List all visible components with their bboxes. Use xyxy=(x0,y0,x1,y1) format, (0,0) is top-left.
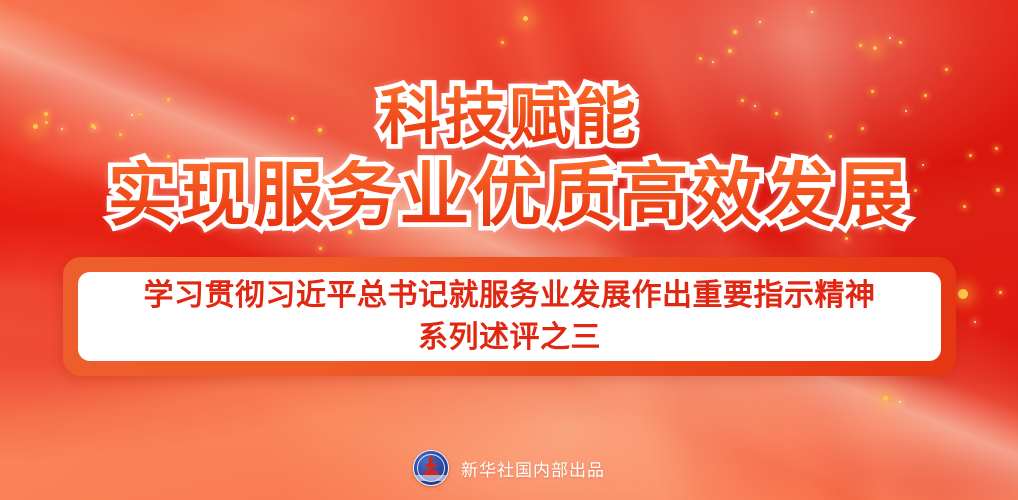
sparkle-particle xyxy=(899,41,902,44)
red-silk-left-drape xyxy=(0,0,1018,500)
sparkle-particle xyxy=(945,68,948,71)
red-silk-right-fold xyxy=(0,0,1018,500)
red-silk-upper-right xyxy=(0,0,1018,500)
sparkle-particle xyxy=(728,49,732,53)
title-line-1-stack: 科技赋能 科技赋能 xyxy=(379,86,639,148)
center-glow xyxy=(0,0,1018,500)
sparkle-particle xyxy=(845,237,848,240)
light-ribbon-sweep xyxy=(0,0,1018,500)
gold-sparkle-particles xyxy=(0,0,1018,500)
red-silk-bottom-right-arc xyxy=(0,0,1018,500)
xinhua-logo-icon xyxy=(413,450,449,486)
sparkle-particle xyxy=(319,247,322,250)
title-line-1: 科技赋能 xyxy=(379,86,639,148)
sparkle-particle xyxy=(699,57,702,60)
silk-sheen-streaks xyxy=(0,0,1018,500)
footer-attribution: 新华社国内部出品 xyxy=(461,456,605,481)
red-silk-bottom-right-highlight xyxy=(0,0,1018,500)
sparkle-particle xyxy=(883,396,888,401)
sparkle-particle xyxy=(733,30,737,34)
sparkle-particle xyxy=(958,289,968,299)
sparkle-particle xyxy=(859,44,862,47)
sparkle-particle xyxy=(899,401,901,403)
sparkle-particle xyxy=(759,21,761,23)
title-line-2-stack: 实现服务业优质高效发展 实现服务业优质高效发展 xyxy=(108,160,911,230)
sparkle-particle xyxy=(501,41,504,44)
title-line-2: 实现服务业优质高效发展 xyxy=(108,160,911,230)
logo-banner xyxy=(414,475,448,481)
sparkle-particle xyxy=(523,16,528,21)
subtitle-line-2: 系列述评之三 xyxy=(418,317,601,358)
sparkle-particle xyxy=(889,37,891,39)
subtitle-banner-inner: 学习贯彻习近平总书记就服务业发展作出重要指示精神 系列述评之三 xyxy=(78,272,941,361)
logo-tower-mid xyxy=(426,464,437,467)
red-silk-left-fold-highlight xyxy=(0,0,1018,500)
subtitle-line-1: 学习贯彻习近平总书记就服务业发展作出重要指示精神 xyxy=(144,275,876,316)
sparkle-particle xyxy=(712,61,714,63)
main-title: 科技赋能 科技赋能 实现服务业优质高效发展 实现服务业优质高效发展 xyxy=(0,86,1018,230)
poster-canvas: 科技赋能 科技赋能 实现服务业优质高效发展 实现服务业优质高效发展 学习贯彻习近… xyxy=(0,0,1018,500)
background-base-gradient xyxy=(0,0,1018,500)
red-silk-left-lower xyxy=(0,0,1018,500)
sparkle-particle xyxy=(974,321,976,323)
sparkle-particle xyxy=(999,291,1002,294)
footer: 新华社国内部出品 xyxy=(0,450,1018,486)
top-glow xyxy=(0,0,1018,500)
sparkle-particle xyxy=(873,46,877,50)
subtitle-banner-frame: 学习贯彻习近平总书记就服务业发展作出重要指示精神 系列述评之三 xyxy=(63,257,956,376)
sparkle-particle xyxy=(811,11,813,13)
